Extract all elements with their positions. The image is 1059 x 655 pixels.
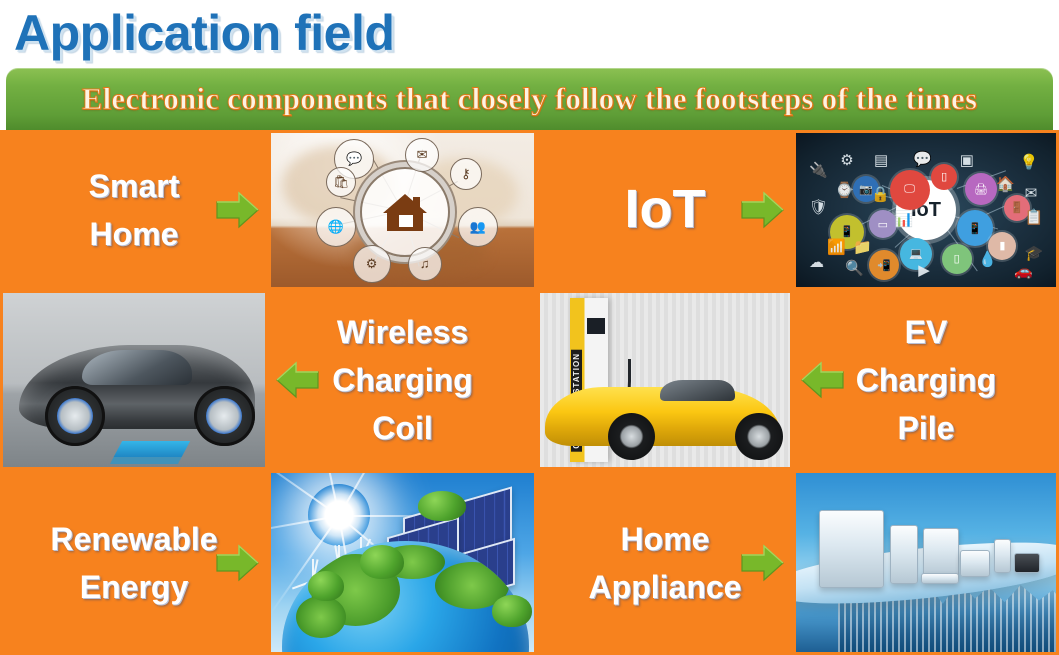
range-hood-icon <box>923 528 959 577</box>
bag-icon: 🛍 <box>326 167 356 197</box>
people-icon: 👥 <box>458 207 498 247</box>
lock-icon: 🔒 <box>871 185 890 203</box>
tablet-icon: ▭ <box>869 210 897 238</box>
tile-ev-charging-image[interactable]: CHARGING STATION <box>537 290 793 470</box>
iot-network-diagram: IoT 🖵 📷 ▯ 🖨 📱 ▭ 📱 🚪 💻 📲 ▯ ▮ 🔌 ⚙ ▤ 💬 ▣ 💡 <box>796 133 1056 287</box>
graduation-icon: 🎓 <box>1025 244 1044 262</box>
monitor-icon: 🖵 <box>890 170 930 210</box>
boiler-icon <box>994 539 1012 573</box>
arrow-right-icon <box>741 190 785 230</box>
gear-icon: ⚙ <box>353 245 391 283</box>
yellow-sports-car-at-ev-charging-station: CHARGING STATION <box>540 293 790 467</box>
silver-sports-car-on-wireless-charging-pad <box>3 293 265 467</box>
application-grid: Smart Home <box>0 130 1059 655</box>
tile-label-wireless-charging-coil: Wireless Charging Coil <box>318 308 486 452</box>
tile-label-home-appliance: Home Appliance <box>575 515 756 611</box>
tree-icon <box>492 595 532 627</box>
smartwatch-icon: ⌚ <box>835 181 854 199</box>
shield-icon: 🛡 <box>809 198 828 216</box>
mail-icon: ✉ <box>1025 184 1038 202</box>
server-icon: ▤ <box>874 151 888 169</box>
printer-icon: 🖨 <box>965 173 997 205</box>
tile-home-appliance[interactable]: Home Appliance <box>537 470 793 655</box>
tile-label-ev-charging-pile: EV Charging Pile <box>842 308 1010 452</box>
tile-wireless-charging-coil[interactable]: Wireless Charging Coil <box>268 290 537 470</box>
car-icon: 🚗 <box>1014 262 1033 280</box>
tile-renewable-energy-image[interactable] <box>268 470 537 655</box>
battery-icon: ▯ <box>931 164 957 190</box>
tile-iot[interactable]: IoT <box>537 130 793 290</box>
plug-icon: 🔌 <box>809 161 828 179</box>
refrigerator-icon <box>819 510 883 587</box>
tree-icon <box>308 571 344 601</box>
device-icon: ▯ <box>942 244 972 274</box>
water-drop-icon: 💧 <box>978 250 997 268</box>
cloud-icon: ☁ <box>809 253 824 271</box>
tile-wireless-charging-car-image[interactable] <box>0 290 268 470</box>
chart-icon: 📊 <box>895 210 914 228</box>
search-icon: 🔍 <box>845 259 864 277</box>
microwave-icon <box>1014 553 1039 573</box>
tile-ev-charging-pile[interactable]: EV Charging Pile <box>793 290 1059 470</box>
cooktop-icon <box>921 573 959 584</box>
oven-icon <box>960 550 991 577</box>
arrow-right-icon <box>216 543 260 583</box>
tile-smart-home-image[interactable]: 💬 ✉ ⚷ 👥 ♫ ⚙ 🌐 🛍 <box>268 130 537 290</box>
globe-icon: 🌐 <box>316 207 356 247</box>
smart-home-network-illustration: 💬 ✉ ⚷ 👥 ♫ ⚙ 🌐 🛍 <box>271 133 534 287</box>
mobile-icon: 📲 <box>869 250 899 280</box>
arrow-left-icon <box>276 360 320 400</box>
tree-icon <box>418 491 466 521</box>
microwave-icon: ▣ <box>960 151 974 169</box>
banner: Electronic components that closely follo… <box>6 68 1053 130</box>
bulb-icon: 💡 <box>1020 153 1039 171</box>
arrow-right-icon <box>741 543 785 583</box>
arrow-right-icon <box>216 190 260 230</box>
video-icon: ▶ <box>918 261 930 279</box>
arrow-left-icon <box>801 360 845 400</box>
chat-icon: 💬 <box>913 150 932 168</box>
folder-icon: 📁 <box>853 238 872 256</box>
banner-text: Electronic components that closely follo… <box>82 81 978 117</box>
wifi-icon: 📶 <box>827 238 846 256</box>
wireless-charging-pad <box>114 441 190 457</box>
house-icon: 🏠 <box>996 175 1015 193</box>
tile-label-renewable-energy: Renewable Energy <box>36 515 231 611</box>
tree-icon <box>360 545 404 579</box>
page-title: Application field <box>14 2 394 64</box>
tile-smart-home[interactable]: Smart Home <box>0 130 268 290</box>
tile-label-smart-home: Smart Home <box>75 162 194 258</box>
gears-icon: ⚙ <box>840 151 853 169</box>
solar-panels-wind-turbines-earth-globe <box>271 473 534 652</box>
sun-icon <box>308 484 370 546</box>
house-icon <box>360 167 450 257</box>
tile-home-appliance-image[interactable] <box>793 470 1059 655</box>
application-field-slide: Application field Electronic components … <box>0 0 1059 655</box>
key-icon: ⚷ <box>450 158 482 190</box>
water-heater-icon <box>890 525 918 584</box>
home-appliances-over-cityscape <box>796 473 1056 652</box>
tile-label-iot: IoT <box>611 180 720 239</box>
mail-icon: ✉ <box>405 138 439 172</box>
clipboard-icon: 📋 <box>1025 208 1044 226</box>
tile-renewable-energy[interactable]: Renewable Energy <box>0 470 268 655</box>
music-note-icon: ♫ <box>408 247 442 281</box>
tile-iot-image[interactable]: IoT 🖵 📷 ▯ 🖨 📱 ▭ 📱 🚪 💻 📲 ▯ ▮ 🔌 ⚙ ▤ 💬 ▣ 💡 <box>793 130 1059 290</box>
